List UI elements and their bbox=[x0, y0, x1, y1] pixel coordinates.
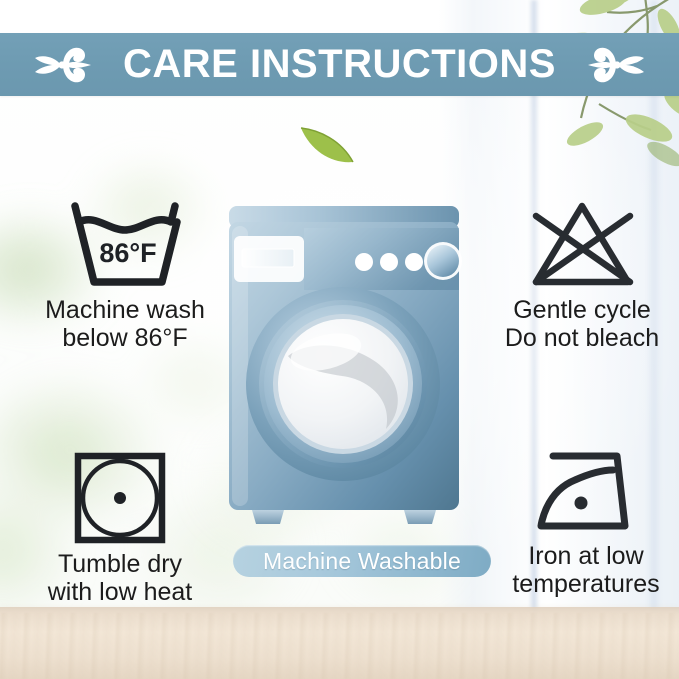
fleur-de-lis-ornament-left-icon bbox=[33, 44, 97, 86]
crossed-triangle-no-bleach-icon bbox=[526, 198, 638, 290]
wooden-table-surface bbox=[0, 607, 679, 679]
page-title: CARE INSTRUCTIONS bbox=[123, 42, 556, 87]
table-wood-grain bbox=[0, 613, 679, 679]
care-item-machine-wash: 86°F Machine wash below 86°F bbox=[18, 198, 232, 352]
control-button-1[interactable] bbox=[355, 253, 373, 271]
washing-machine-illustration bbox=[226, 204, 462, 534]
control-button-3[interactable] bbox=[405, 253, 423, 271]
floating-green-leaf-icon bbox=[297, 124, 359, 168]
machine-foot-right bbox=[404, 510, 436, 524]
machine-foot-left bbox=[252, 510, 284, 524]
iron-low-temperature-icon bbox=[531, 448, 641, 536]
fleur-de-lis-ornament-right-icon bbox=[582, 44, 646, 86]
care-item-gentle-cycle-no-bleach: Gentle cycle Do not bleach bbox=[492, 198, 672, 352]
header-banner: CARE INSTRUCTIONS bbox=[0, 33, 679, 96]
care-label-tumble-dry: Tumble dry with low heat bbox=[48, 550, 193, 606]
care-label-gentle-cycle-no-bleach: Gentle cycle Do not bleach bbox=[505, 296, 659, 352]
care-label-iron-low: Iron at low temperatures bbox=[512, 542, 659, 598]
detergent-drawer-handle bbox=[242, 249, 294, 267]
tumble-dry-low-heat-icon bbox=[70, 448, 170, 544]
care-label-machine-wash: Machine wash below 86°F bbox=[45, 296, 205, 352]
care-item-iron-low: Iron at low temperatures bbox=[498, 448, 674, 598]
control-button-2[interactable] bbox=[380, 253, 398, 271]
program-dial[interactable] bbox=[427, 245, 459, 277]
care-item-tumble-dry: Tumble dry with low heat bbox=[22, 448, 218, 606]
machine-washable-badge: Machine Washable bbox=[233, 545, 491, 577]
wash-basin-icon: 86°F bbox=[58, 198, 193, 290]
care-instructions-graphic: CARE INSTRUCTIONS 86°F Machine wash belo… bbox=[0, 0, 679, 679]
machine-washable-badge-label: Machine Washable bbox=[263, 548, 461, 575]
wash-temperature-value: 86°F bbox=[99, 238, 156, 268]
